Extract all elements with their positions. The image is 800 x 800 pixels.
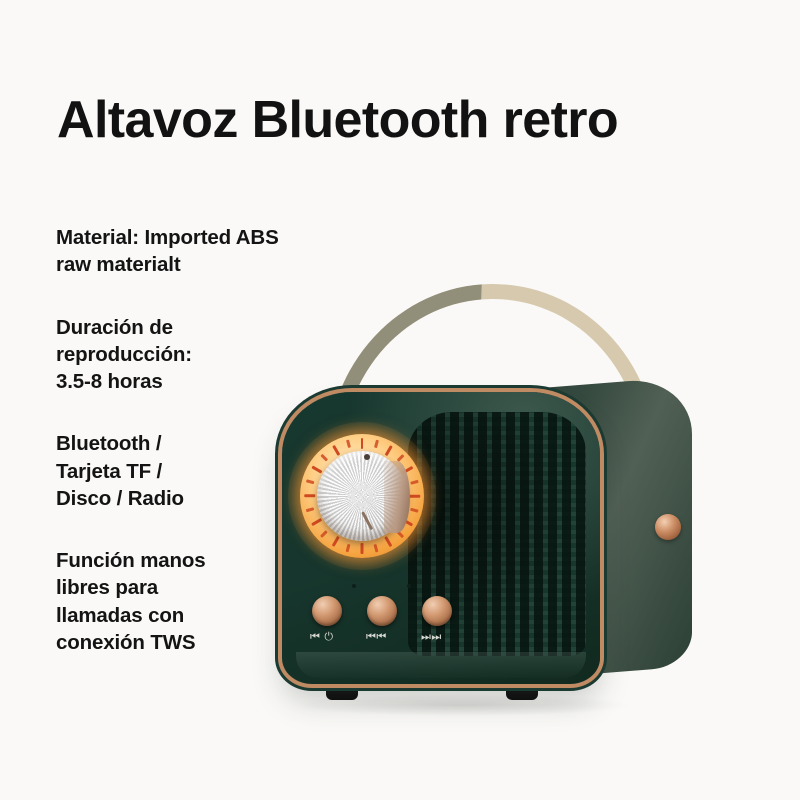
dial-tick — [311, 518, 322, 526]
dial-tick — [410, 480, 418, 484]
next-track-button[interactable] — [422, 596, 452, 626]
dial-knob[interactable] — [317, 451, 407, 541]
led-indicator-2 — [407, 584, 411, 588]
dial-tick — [374, 544, 378, 552]
product-marketing-canvas: Altavoz Bluetooth retro Material: Import… — [0, 0, 800, 800]
speaker-body-front: ⏮ ⏻ ⏮⏮ ⏭⏭ — [282, 392, 600, 684]
feature-item-material: Material: Imported ABS raw materialt — [56, 224, 316, 279]
knob-pointer — [361, 511, 373, 530]
product-image-speaker: ⏮ ⏻ ⏮⏮ ⏭⏭ — [258, 276, 798, 746]
power-icon: ⏮ ⏻ — [310, 630, 334, 644]
dial-tick — [320, 530, 327, 537]
dial-tick — [409, 495, 420, 498]
dial-tick — [410, 508, 418, 512]
dial-tick — [361, 438, 364, 449]
next-track-icon: ⏭⏭ — [421, 630, 442, 644]
dial-tick — [346, 440, 350, 448]
dial-tick — [384, 536, 392, 547]
dial-tick — [346, 544, 350, 552]
dial-tick — [361, 543, 364, 554]
dial-tick — [384, 445, 392, 456]
dial-tick — [374, 440, 378, 448]
dial-tick — [304, 495, 315, 498]
dial-tick — [306, 480, 314, 484]
dial-tick — [311, 466, 322, 474]
power-button[interactable] — [312, 596, 342, 626]
control-panel: ⏮ ⏻ ⏮⏮ ⏭⏭ — [312, 592, 462, 654]
tuning-dial[interactable] — [300, 434, 424, 558]
page-title: Altavoz Bluetooth retro — [57, 93, 737, 148]
knob-index-dot — [364, 454, 370, 460]
led-indicator-1 — [352, 584, 356, 588]
dial-tick — [320, 454, 327, 461]
dial-tick — [332, 536, 340, 547]
strap-rivet — [655, 514, 681, 540]
dial-tick — [332, 445, 340, 456]
dial-tick — [306, 508, 314, 512]
previous-track-icon: ⏮⏮ — [366, 630, 387, 644]
previous-track-button[interactable] — [367, 596, 397, 626]
